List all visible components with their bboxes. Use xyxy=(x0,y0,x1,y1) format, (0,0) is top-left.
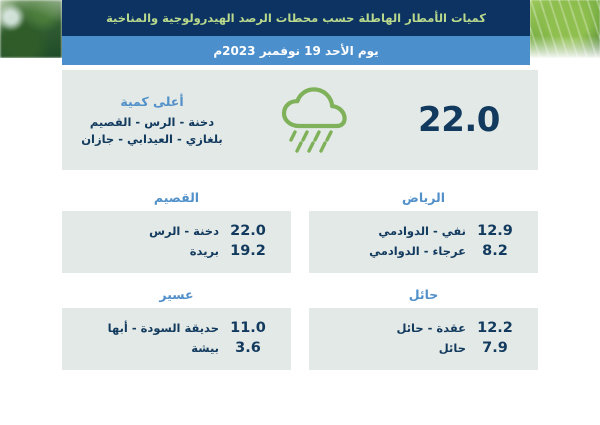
station-name: عقدة - حائل xyxy=(323,321,466,335)
region-name: حائل xyxy=(309,287,538,302)
region-name: عسير xyxy=(62,287,291,302)
station-name: نفي - الدوادمي xyxy=(323,224,466,238)
station-value: 12.9 xyxy=(466,223,524,239)
station-value: 19.2 xyxy=(219,243,277,259)
date-bar: يوم الأحد 19 نوفمبر 2023م xyxy=(62,36,530,65)
station-value: 12.2 xyxy=(466,320,524,336)
regions-grid: الرياض 12.9 نفي - الدوادمي 8.2 عرجاء - ا… xyxy=(62,190,538,370)
highest-amount-info: أعلى كمية دخنة - الرس - القصيم بلغازي - … xyxy=(62,93,250,147)
region-hail: حائل 12.2 عقدة - حائل 7.9 حائل xyxy=(309,287,538,370)
highest-amount-label: أعلى كمية xyxy=(62,93,242,111)
page-title: كميات الأمطار الهاطلة حسب محطات الرصد ال… xyxy=(106,11,486,25)
region-name: القصيم xyxy=(62,190,291,205)
station-name: دخنة - الرس xyxy=(76,224,219,238)
highest-amount-panel: أعلى كمية دخنة - الرس - القصيم بلغازي - … xyxy=(62,70,538,170)
photo-fade-overlay xyxy=(530,36,600,58)
station-name: حديقة السودة - أبها xyxy=(76,321,219,335)
infographic-page: كميات الأمطار الهاطلة حسب محطات الرصد ال… xyxy=(0,0,600,425)
region-card: 11.0 حديقة السودة - أبها 3.6 بيشة xyxy=(62,308,291,370)
highest-amount-value: 22.0 xyxy=(380,100,538,140)
station-value: 7.9 xyxy=(466,340,524,356)
station-value: 8.2 xyxy=(466,243,524,259)
station-name: حائل xyxy=(323,341,466,355)
station-row: 12.2 عقدة - حائل xyxy=(323,318,524,338)
station-value: 11.0 xyxy=(219,320,277,336)
station-row: 22.0 دخنة - الرس xyxy=(76,221,277,241)
highest-amount-station-primary: دخنة - الرس - القصيم xyxy=(62,114,242,131)
date-label: يوم الأحد 19 نوفمبر 2023م xyxy=(213,44,378,58)
title-bar: كميات الأمطار الهاطلة حسب محطات الرصد ال… xyxy=(62,0,530,36)
station-value: 22.0 xyxy=(219,223,277,239)
station-row: 8.2 عرجاء - الدوادمي xyxy=(323,241,524,261)
region-card: 22.0 دخنة - الرس 19.2 بريدة xyxy=(62,211,291,273)
region-card: 12.9 نفي - الدوادمي 8.2 عرجاء - الدوادمي xyxy=(309,211,538,273)
rain-foliage-photo xyxy=(530,0,600,58)
region-qassim: القصيم 22.0 دخنة - الرس 19.2 بريدة xyxy=(62,190,291,273)
highest-amount-station-secondary: بلغازي - العيدابي - جازان xyxy=(62,131,242,148)
station-row: 11.0 حديقة السودة - أبها xyxy=(76,318,277,338)
station-value: 3.6 xyxy=(219,340,277,356)
region-card: 12.2 عقدة - حائل 7.9 حائل xyxy=(309,308,538,370)
station-name: بيشة xyxy=(76,341,219,355)
region-asir: عسير 11.0 حديقة السودة - أبها 3.6 بيشة xyxy=(62,287,291,370)
station-row: 12.9 نفي - الدوادمي xyxy=(323,221,524,241)
station-row: 3.6 بيشة xyxy=(76,338,277,358)
rain-cloud-icon xyxy=(250,86,380,154)
palm-foliage-image xyxy=(0,0,62,58)
region-riyadh: الرياض 12.9 نفي - الدوادمي 8.2 عرجاء - ا… xyxy=(309,190,538,273)
station-name: بريدة xyxy=(76,244,219,258)
station-name: عرجاء - الدوادمي xyxy=(323,244,466,258)
region-name: الرياض xyxy=(309,190,538,205)
station-row: 7.9 حائل xyxy=(323,338,524,358)
palm-foliage-photo xyxy=(0,0,62,58)
station-row: 19.2 بريدة xyxy=(76,241,277,261)
